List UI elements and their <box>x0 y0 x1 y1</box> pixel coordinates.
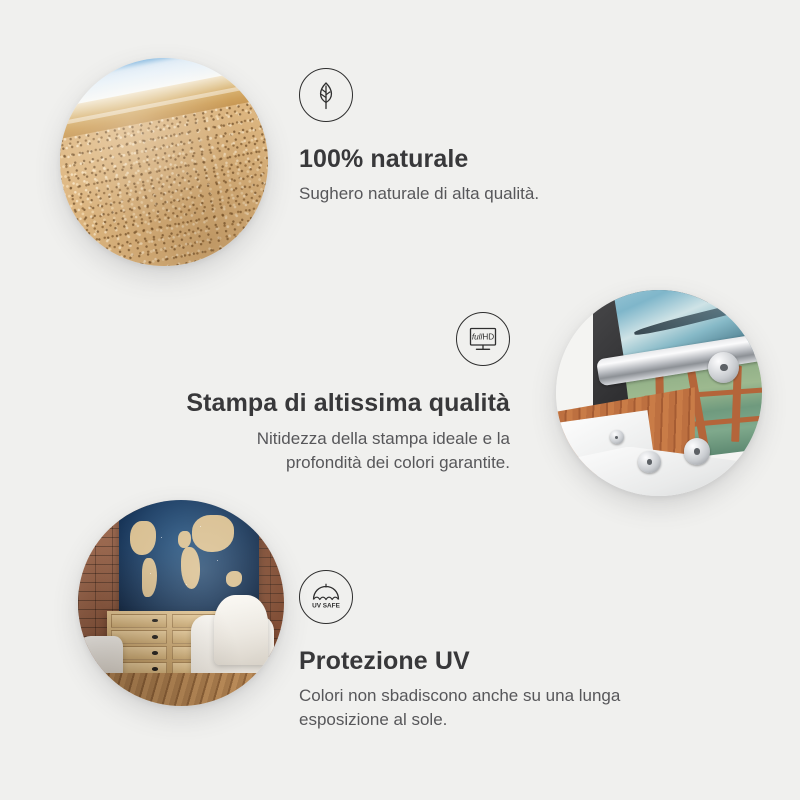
uv-safe-label: UV SAFE <box>312 602 340 609</box>
feature-natural-description: Sughero naturale di alta qualità. <box>299 182 629 206</box>
feature-uv-protection-description: Colori non sbadiscono anche su una lunga… <box>299 684 669 732</box>
feature-natural: 100% naturale Sughero naturale di alta q… <box>299 68 629 206</box>
large-format-printer-photo <box>556 290 762 496</box>
feature-print-quality: fullHD Stampa di altissima qualità Nitid… <box>180 312 510 475</box>
fullhd-monitor-icon: fullHD <box>456 312 510 366</box>
svg-text:fullHD: fullHD <box>472 333 494 342</box>
feature-uv-protection-title: Protezione UV <box>299 646 669 676</box>
feature-uv-protection: UV SAFE Protezione UV Colori non sbadisc… <box>299 570 669 732</box>
feature-natural-title: 100% naturale <box>299 144 629 174</box>
uv-safe-umbrella-icon: UV SAFE <box>299 570 353 624</box>
feature-print-quality-title: Stampa di altissima qualità <box>180 388 510 418</box>
leaf-icon <box>299 68 353 122</box>
room-world-map-photo <box>78 500 284 706</box>
cork-texture-photo <box>60 58 268 266</box>
infographic-stage: 100% naturale Sughero naturale di alta q… <box>0 0 800 800</box>
feature-print-quality-description: Nitidezza della stampa ideale e la profo… <box>180 427 510 475</box>
